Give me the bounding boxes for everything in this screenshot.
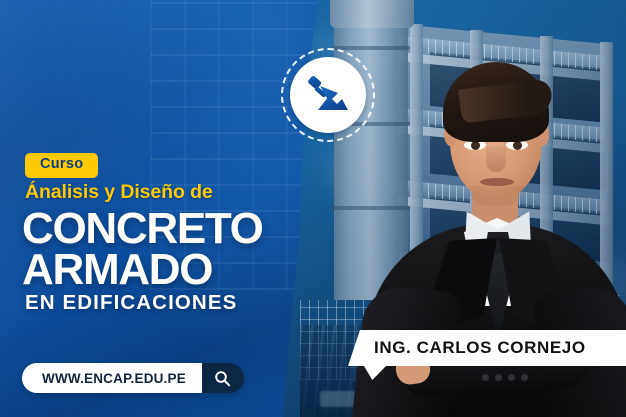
course-emblem bbox=[281, 48, 375, 142]
search-button[interactable] bbox=[202, 363, 244, 393]
course-subtitle: Ánalisis y Diseño de bbox=[25, 181, 213, 204]
website-pill[interactable]: WWW.ENCAP.EDU.PE bbox=[22, 363, 244, 393]
mouth bbox=[480, 178, 514, 186]
course-headline: CONCRETO ARMADO bbox=[22, 208, 263, 291]
curso-badge: Curso bbox=[25, 153, 98, 178]
nose bbox=[486, 146, 506, 172]
headline-line-1: CONCRETO bbox=[22, 208, 263, 249]
magnifier-icon bbox=[214, 370, 231, 387]
jacket-buttons bbox=[482, 374, 528, 386]
course-subheadline: EN EDIFICACIONES bbox=[25, 291, 237, 315]
emblem-circle bbox=[290, 57, 366, 133]
instructor-name-banner: ING. CARLOS CORNEJO bbox=[344, 330, 626, 366]
website-url[interactable]: WWW.ENCAP.EDU.PE bbox=[22, 363, 202, 393]
trowel-icon bbox=[305, 72, 351, 118]
headline-line-2: ARMADO bbox=[22, 249, 263, 290]
course-banner: Curso Ánalisis y Diseño de CONCRETO ARMA… bbox=[0, 0, 626, 417]
instructor-name: ING. CARLOS CORNEJO bbox=[344, 338, 586, 358]
